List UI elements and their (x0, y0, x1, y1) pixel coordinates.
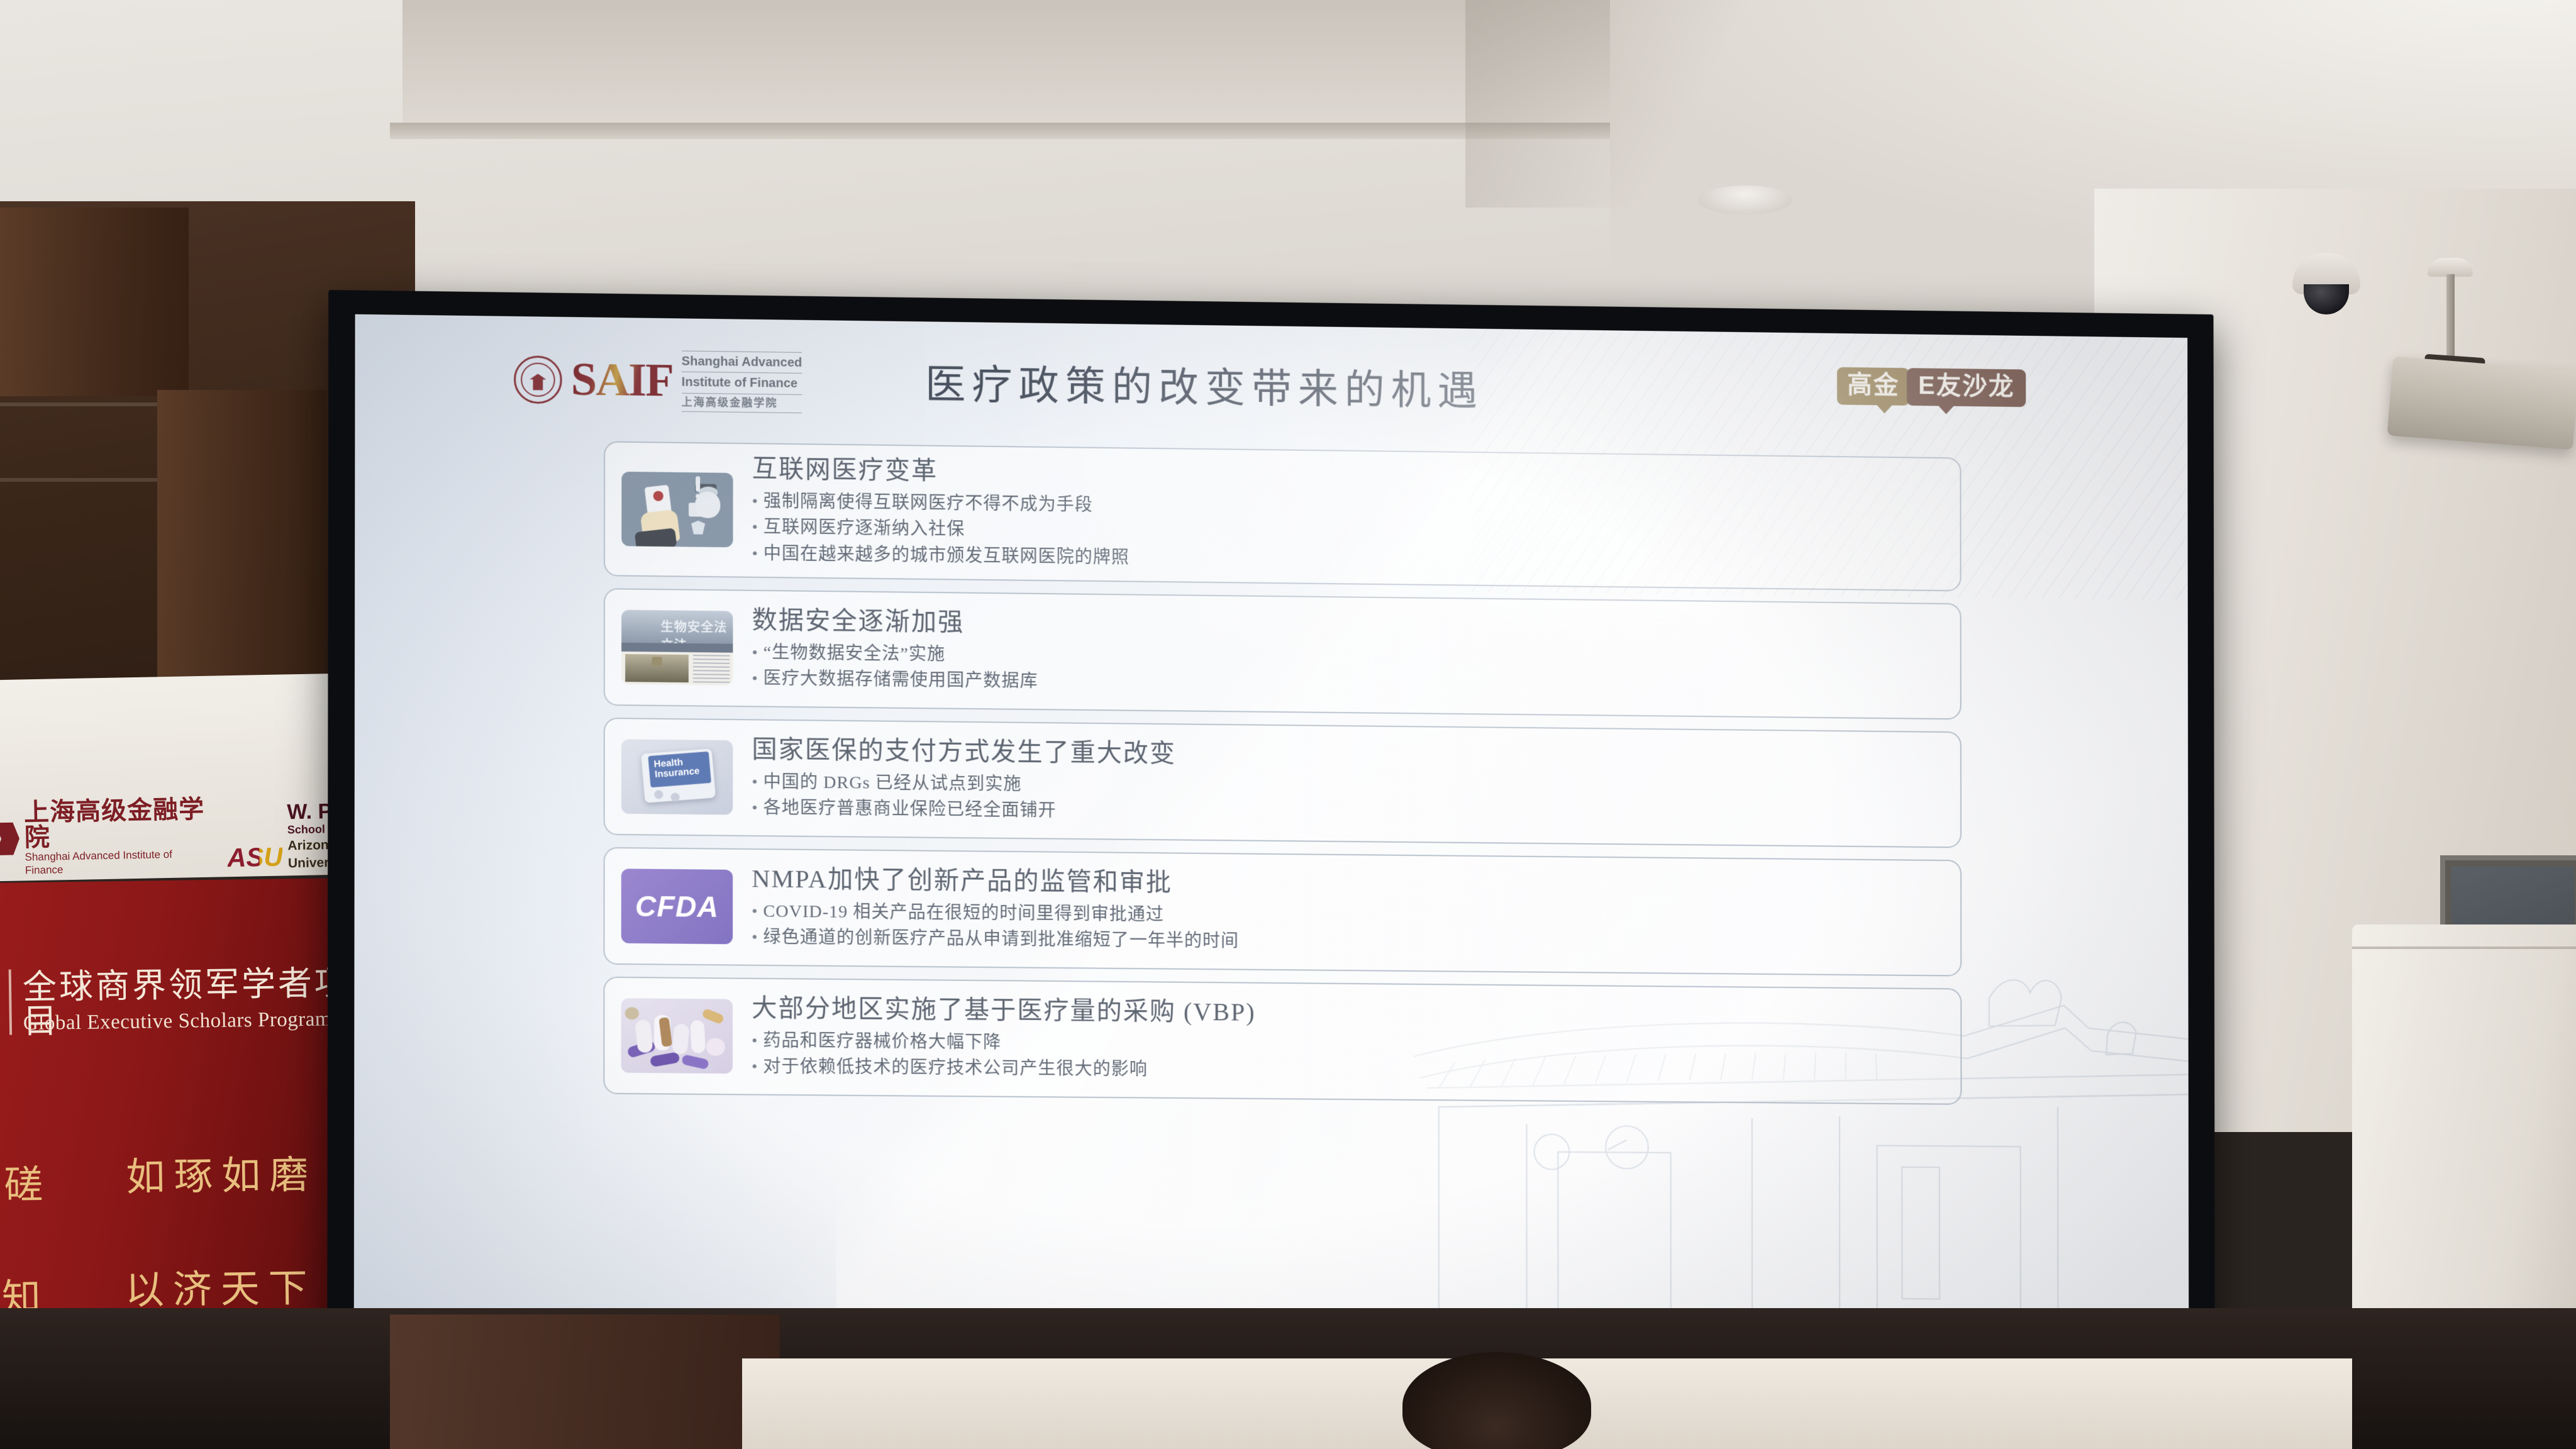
brand-badge-eyoushalong: E友沙龙 (1907, 368, 2026, 407)
saif-logo-line1: Shanghai Advanced (682, 353, 802, 372)
policy-card[interactable]: CFDA NMPA加快了创新产品的监管和审批 COVID-19 相关产品在很短的… (603, 847, 1962, 977)
saif-wordmark: SAIF (571, 359, 673, 402)
saif-rule-top (682, 351, 802, 353)
round-pill-icon (625, 1008, 639, 1020)
thumbnail-text-lines (693, 655, 730, 683)
pills-thumbnail (621, 998, 733, 1074)
cfda-logo-thumbnail: CFDA (621, 869, 733, 945)
cfda-wordmark: CFDA (635, 889, 719, 924)
capsule-icon (651, 1001, 675, 1013)
wood-panel (157, 390, 327, 686)
medical-cross-dot-icon (653, 491, 663, 501)
saif-banner-en: Shanghai Advanced Institute of Finance (25, 847, 208, 877)
ges-initial: S (0, 963, 3, 1031)
policy-card-bullets: 中国的 DRGs 已经从试点到实施 各地医疗普惠商业保险已经全面铺开 (752, 769, 1944, 833)
policy-card-title: 国家医保的支付方式发生了重大改变 (752, 735, 1944, 775)
policy-card-title: NMPA加快了创新产品的监管和审批 (752, 864, 1944, 904)
alert-icon (696, 476, 700, 491)
policy-card-bullets: 强制隔离使得互联网医疗不得不成为手段 互联网医疗逐渐纳入社保 中国在越来越多的城… (752, 488, 1944, 580)
thumbnail-navbar (621, 643, 733, 653)
event-brand-badges: 高金 E友沙龙 (1837, 367, 2026, 407)
policy-card[interactable]: 生物安全法立法 数据安全逐渐加强 “生物数据安全法”实施 医疗大数据存储需使用国… (604, 589, 1962, 720)
brand-badge-gaojin: 高金 (1837, 367, 1909, 406)
saif-logo-line3: 上海高级金融学院 (682, 395, 802, 411)
tablet-pill-icon (690, 1020, 706, 1053)
policy-card-bullets: COVID-19 相关产品在很短的时间里得到审批通过 绿色通道的创新医疗产品从申… (752, 898, 1944, 961)
policy-card-bullets: “生物数据安全法”实施 医疗大数据存储需使用国产数据库 (752, 640, 1944, 704)
saif-logo-line2: Institute of Finance (682, 374, 802, 392)
saif-logo: SAIF Shanghai Advanced Institute of Fina… (514, 347, 802, 415)
calligraphy-1: 如磋 (0, 1153, 52, 1211)
wood-panel (0, 208, 189, 396)
policy-card-body: 数据安全逐渐加强 “生物数据安全法”实施 医疗大数据存储需使用国产数据库 (752, 606, 1944, 704)
smoke-detector (1698, 186, 1792, 214)
policy-card-body: 大部分地区实施了基于医疗量的采购 (VBP) 药品和医疗器械价格大幅下降 对于依… (752, 994, 1944, 1090)
shield-icon (691, 521, 705, 535)
sleeve-shape (635, 528, 677, 548)
policy-card[interactable]: 大部分地区实施了基于医疗量的采购 (VBP) 药品和医疗器械价格大幅下降 对于依… (603, 977, 1962, 1105)
calligraphy-2: 如琢如磨 (126, 1143, 318, 1202)
biosecurity-law-thumbnail: 生物安全法立法 (621, 610, 733, 686)
saif-banner-cn: 上海高级金融学院 (24, 796, 208, 850)
calligraphy-4: 以济天下 (125, 1256, 316, 1315)
saif-rule-bottom (682, 411, 802, 413)
policy-card-body: 互联网医疗变革 强制隔离使得互联网医疗不得不成为手段 互联网医疗逐渐纳入社保 中… (752, 454, 1944, 580)
tablet-pill-icon (635, 1019, 653, 1053)
foreground-wood-panel (390, 1314, 780, 1449)
ceiling-shadow (1465, 0, 1818, 208)
capsule-icon (701, 1008, 724, 1025)
saif-rule-mid (682, 372, 802, 374)
national-emblem-icon (652, 657, 662, 666)
policy-card-body: NMPA加快了创新产品的监管和审批 COVID-19 相关产品在很短的时间里得到… (752, 864, 1944, 961)
saif-banner-logo: 上海高级金融学院 Shanghai Advanced Institute of … (0, 796, 209, 877)
saif-seal-icon (514, 355, 562, 404)
slide-header: SAIF Shanghai Advanced Institute of Fina… (355, 314, 2187, 443)
saif-mark-icon (0, 822, 19, 855)
round-pill-icon (706, 1038, 725, 1056)
policy-card-body: 国家医保的支付方式发生了重大改变 中国的 DRGs 已经从试点到实施 各地医疗普… (752, 735, 1944, 833)
policy-card-title: 大部分地区实施了基于医疗量的采购 (VBP) (752, 994, 1944, 1033)
cabinet-seam (2352, 947, 2576, 949)
capsule-icon (650, 1052, 680, 1067)
projector (2387, 357, 2576, 450)
slide-title: 医疗政策的改变带来的机遇 (925, 352, 1484, 416)
policy-card[interactable]: 互联网医疗变革 强制隔离使得互联网医疗不得不成为手段 互联网医疗逐渐纳入社保 中… (604, 441, 1962, 591)
saif-logo-subtitle: Shanghai Advanced Institute of Finance 上… (682, 349, 802, 416)
saif-rule-mid2 (682, 392, 802, 394)
internet-healthcare-thumbnail (621, 472, 733, 547)
policy-card[interactable]: Health Insurance 国家医保的支付方式发生了重大改变 中国的 DR… (604, 718, 1962, 848)
presentation-slide: SAIF Shanghai Advanced Institute of Fina… (354, 314, 2189, 1338)
health-insurance-thumbnail: Health Insurance (621, 740, 733, 815)
policy-card-bullets: 药品和医疗器械价格大幅下降 对于依赖低技术的医疗技术公司产生很大的影响 (752, 1028, 1944, 1089)
policy-cards-list: 互联网医疗变革 强制隔离使得互联网医疗不得不成为手段 互联网医疗逐渐纳入社保 中… (603, 441, 1962, 1117)
tablet-pill-icon (672, 1023, 689, 1055)
capsule-icon (681, 1055, 709, 1070)
ges-program-en: Global Executive Scholars Program (23, 1008, 332, 1035)
ges-divider (9, 969, 12, 1035)
conference-room-scene: 上海高级金融学院 Shanghai Advanced Institute of … (0, 0, 2576, 1449)
asu-mark: ASU (227, 842, 284, 874)
projection-screen: SAIF Shanghai Advanced Institute of Fina… (327, 290, 2215, 1377)
